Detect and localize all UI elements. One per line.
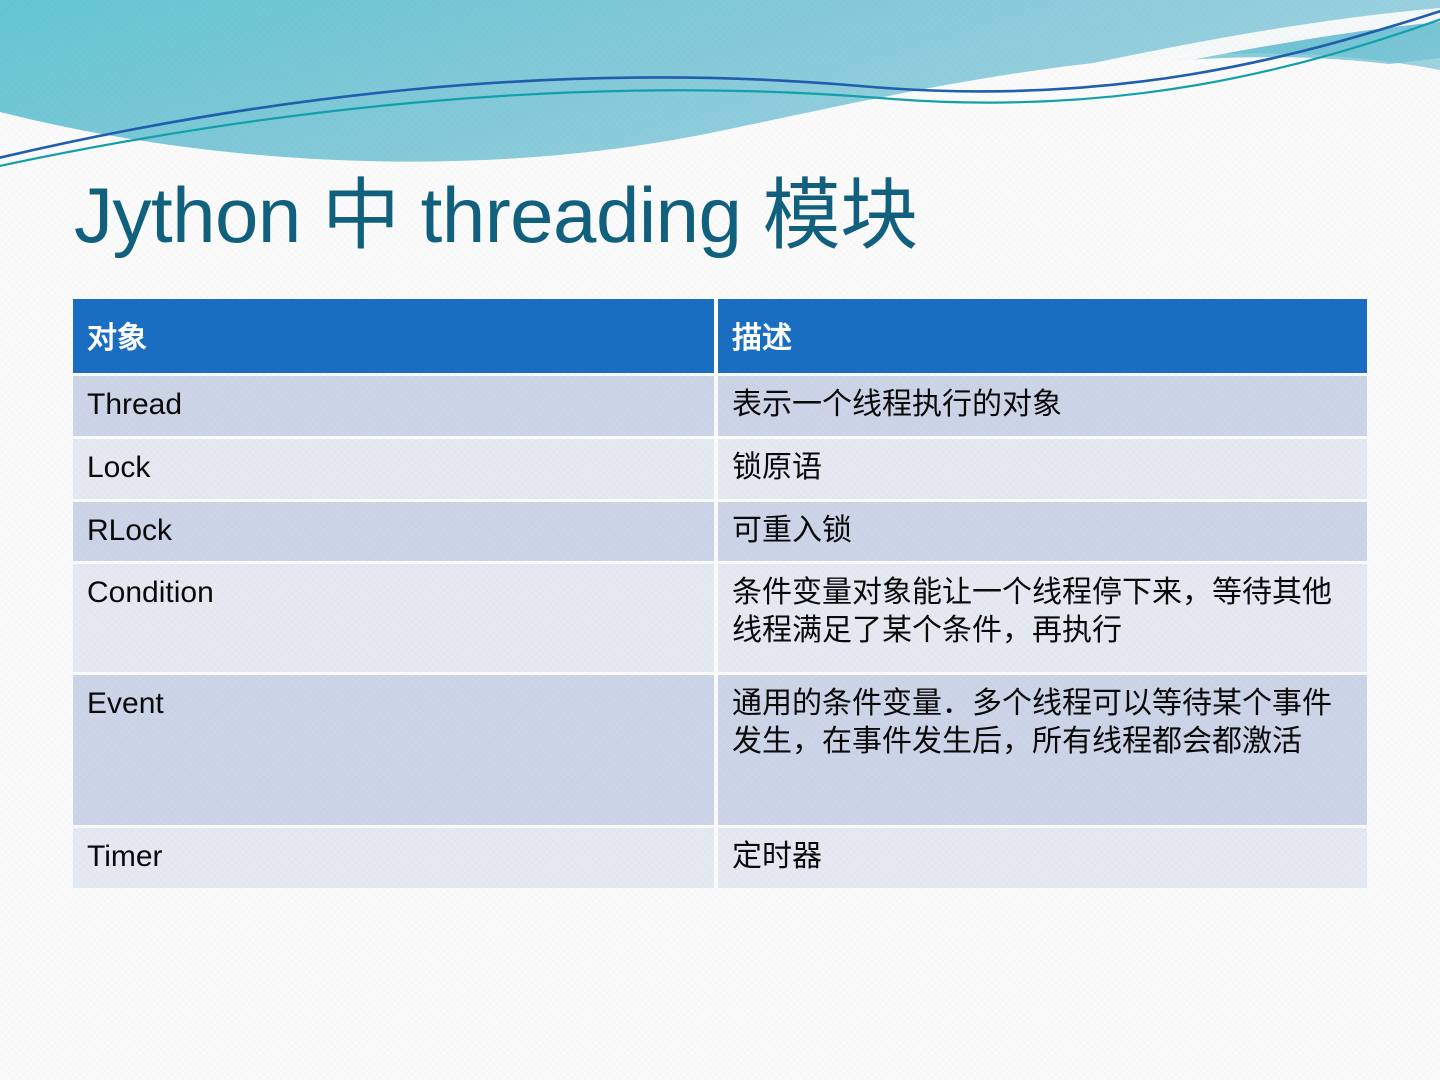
table-row: Thread 表示一个线程执行的对象 <box>73 376 1367 436</box>
table-row: Lock 锁原语 <box>73 439 1367 499</box>
cell-object: Thread <box>73 376 718 436</box>
cell-description: 定时器 <box>718 828 1367 888</box>
column-header-description: 描述 <box>718 299 1367 373</box>
table-body: Thread 表示一个线程执行的对象 Lock 锁原语 RLock 可重入锁 C… <box>73 376 1367 888</box>
wave-graphic <box>0 0 1440 180</box>
presentation-slide: Jython 中 threading 模块 对象 描述 Thread 表示一个线… <box>0 0 1440 1080</box>
cell-description: 通用的条件变量．多个线程可以等待某个事件发生，在事件发生后，所有线程都会都激活 <box>718 675 1367 825</box>
table-row: Timer 定时器 <box>73 828 1367 888</box>
cell-description: 表示一个线程执行的对象 <box>718 376 1367 436</box>
threading-objects-table: 对象 描述 Thread 表示一个线程执行的对象 Lock 锁原语 RLock … <box>73 296 1367 891</box>
cell-object: Timer <box>73 828 718 888</box>
cell-object: Lock <box>73 439 718 499</box>
cell-description: 条件变量对象能让一个线程停下来，等待其他线程满足了某个条件，再执行 <box>718 564 1367 672</box>
table-row: RLock 可重入锁 <box>73 502 1367 562</box>
cell-object: Condition <box>73 564 718 672</box>
cell-description: 可重入锁 <box>718 502 1367 562</box>
threading-objects-table-container: 对象 描述 Thread 表示一个线程执行的对象 Lock 锁原语 RLock … <box>73 296 1367 891</box>
page-title: Jython 中 threading 模块 <box>74 176 1374 254</box>
table-header-row: 对象 描述 <box>73 299 1367 373</box>
column-header-object: 对象 <box>73 299 718 373</box>
table-row: Event 通用的条件变量．多个线程可以等待某个事件发生，在事件发生后，所有线程… <box>73 675 1367 825</box>
cell-description: 锁原语 <box>718 439 1367 499</box>
cell-object: RLock <box>73 502 718 562</box>
cell-object: Event <box>73 675 718 825</box>
decorative-wave-banner <box>0 0 1440 180</box>
table-row: Condition 条件变量对象能让一个线程停下来，等待其他线程满足了某个条件，… <box>73 564 1367 672</box>
table-header: 对象 描述 <box>73 299 1367 373</box>
